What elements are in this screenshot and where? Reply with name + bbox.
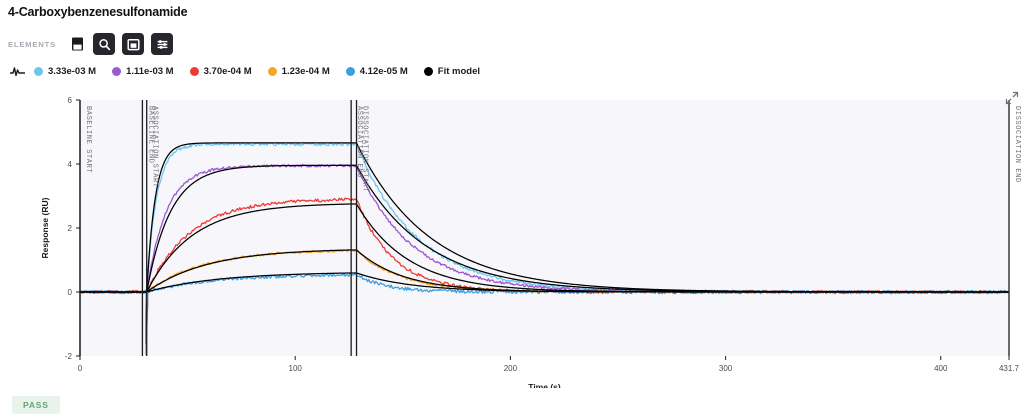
x-axis-title: Time (s) — [528, 382, 561, 388]
book-icon[interactable] — [68, 33, 86, 55]
y-tick-label: 4 — [68, 160, 73, 169]
legend-label: 1.11e-03 M — [126, 66, 174, 77]
status-badge: PASS — [12, 396, 60, 414]
legend-color-dot — [112, 67, 121, 76]
x-tick-label: 400 — [934, 364, 948, 373]
legend-item[interactable]: 3.33e-03 M — [34, 66, 96, 77]
legend-label: 1.23e-04 M — [282, 66, 330, 77]
chart-canvas: -20246Response (RU)0100200300400431.7Tim… — [0, 88, 1024, 388]
y-tick-label: 6 — [68, 96, 73, 105]
legend-item[interactable]: 4.12e-05 M — [346, 66, 408, 77]
y-tick-label: 0 — [68, 288, 73, 297]
calendar-icon[interactable] — [122, 33, 144, 55]
legend-label: Fit model — [438, 66, 480, 77]
page-title: 4-Carboxybenzenesulfonamide — [8, 5, 187, 19]
phase-marker-label: DISSOCIATION START — [361, 106, 369, 192]
y-axis-title: Response (RU) — [40, 197, 50, 258]
filter-icon[interactable] — [151, 33, 173, 55]
legend-color-dot — [34, 67, 43, 76]
x-tick-label: 100 — [289, 364, 303, 373]
phase-marker-label: BASELINE START — [84, 106, 92, 173]
legend-label: 3.33e-03 M — [48, 66, 96, 77]
plot-background — [80, 100, 1009, 356]
phase-marker-label: DISSOCIATION END — [1013, 106, 1021, 183]
sensorgram-chart: -20246Response (RU)0100200300400431.7Tim… — [0, 88, 1024, 388]
legend-item[interactable]: 1.11e-03 M — [112, 66, 174, 77]
search-icon[interactable] — [93, 33, 115, 55]
legend-label: 4.12e-05 M — [360, 66, 408, 77]
x-tick-label: 0 — [78, 364, 83, 373]
x-tick-label: 300 — [719, 364, 733, 373]
elements-toolbar: ELEMENTS — [8, 33, 173, 55]
sensorgram-panel: 4-Carboxybenzenesulfonamide ELEMENTS — [0, 0, 1024, 419]
legend-color-dot — [346, 67, 355, 76]
legend-item[interactable]: Fit model — [424, 66, 480, 77]
x-tick-label: 431.7 — [999, 364, 1020, 373]
legend-color-dot — [268, 67, 277, 76]
waveform-icon — [10, 66, 25, 77]
expand-icon[interactable] — [1004, 90, 1020, 106]
x-tick-label: 200 — [504, 364, 518, 373]
phase-marker-label: ASSOCIATION START — [151, 106, 159, 188]
legend-item[interactable]: 1.23e-04 M — [268, 66, 330, 77]
legend-color-dot — [190, 67, 199, 76]
legend-label: 3.70e-04 M — [204, 66, 252, 77]
legend-color-dot — [424, 67, 433, 76]
series-legend: 3.33e-03 M 1.11e-03 M 3.70e-04 M 1.23e-0… — [10, 66, 490, 77]
legend-item[interactable]: 3.70e-04 M — [190, 66, 252, 77]
elements-label: ELEMENTS — [8, 40, 56, 49]
y-tick-label: 2 — [68, 224, 73, 233]
y-tick-label: -2 — [65, 352, 73, 361]
